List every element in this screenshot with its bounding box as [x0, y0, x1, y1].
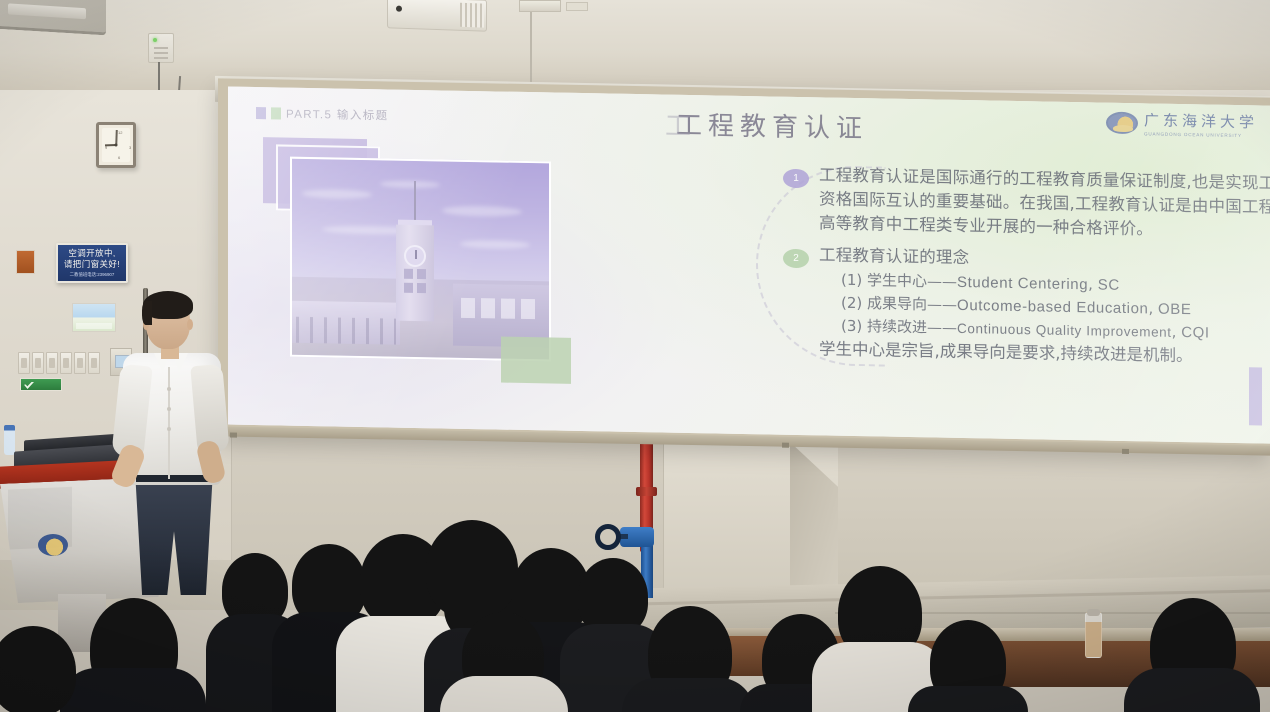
decor-lavender-bar	[1249, 367, 1262, 425]
concept-2-dash: ——	[927, 295, 957, 314]
concept-2-index: (2)	[841, 294, 862, 312]
status-led-icon	[153, 38, 157, 42]
concept-3-cn: 持续改进	[867, 317, 927, 336]
concept-1-abbr: SC	[1098, 276, 1120, 293]
presenter	[118, 295, 226, 595]
wall-clock: 12 3 6 9	[96, 122, 136, 168]
exit-sign	[20, 378, 62, 391]
concept-3-index: (3)	[841, 317, 862, 335]
concept-2-abbr: OBE	[1158, 301, 1191, 319]
projection-surface: PART.5 输入标题 工 工程教育认证 广东海洋大学 GUANGDONG OC…	[228, 87, 1270, 444]
photo-colonnade	[296, 317, 396, 345]
photo-antenna	[414, 181, 416, 221]
presenter-ear-right	[187, 319, 193, 330]
concept-1-en: Student Centering	[957, 274, 1088, 293]
light-switch[interactable]	[88, 352, 100, 374]
audience-body	[60, 668, 206, 712]
projector-vents	[460, 3, 484, 28]
light-switch[interactable]	[60, 352, 72, 374]
slide-block-2: 2 工程教育认证的理念 (1) 学生中心——Student Centering,…	[783, 243, 1270, 374]
ceiling	[0, 0, 1270, 96]
projection-screen-frame: PART.5 输入标题 工 工程教育认证 广东海洋大学 GUANGDONG OC…	[218, 78, 1270, 452]
water-bottle-podium	[4, 425, 15, 455]
photo-clock-tower	[396, 225, 434, 322]
standpipe-valve-wheel-icon[interactable]	[595, 524, 621, 550]
slide-title-ghost: 工	[665, 106, 697, 144]
bullet-number-1: 1	[783, 169, 809, 188]
water-cup-bench	[1085, 612, 1102, 658]
concept-2-en: Outcome-based Education	[957, 297, 1148, 318]
university-logo: 广东海洋大学 GUANGDONG OCEAN UNIVERSITY	[1106, 109, 1258, 139]
concept-1-cn: 学生中心	[867, 271, 927, 290]
block-1-text: 工程教育认证是国际通行的工程教育质量保证制度,也是实现工程教育国际互认和工程师资…	[819, 163, 1270, 247]
notice-line-1: 空调开放中,	[68, 248, 115, 259]
concept-3-en: Continuous Quality Improvement	[957, 321, 1172, 340]
light-switch-row[interactable]	[18, 352, 100, 374]
university-name-en: GUANGDONG OCEAN UNIVERSITY	[1144, 131, 1258, 138]
light-switch[interactable]	[46, 352, 58, 374]
audience-body	[908, 686, 1028, 712]
concept-3-abbr: CQI	[1181, 324, 1209, 342]
slide-title-text: 工程教育认证	[676, 111, 868, 145]
slide-photo-composition	[263, 133, 583, 399]
light-switch[interactable]	[18, 352, 30, 374]
standpipe-flange	[636, 487, 657, 496]
podium-emblem-icon	[38, 534, 68, 556]
university-name-cn: 广东海洋大学	[1144, 111, 1258, 131]
slide-body: 1 工程教育认证是国际通行的工程教育质量保证制度,也是实现工程教育国际互认和工程…	[783, 163, 1270, 382]
notice-line-2: 请把门窗关好!	[64, 259, 120, 270]
concept-3-dash: ——	[927, 318, 957, 337]
wall-control-device[interactable]	[148, 33, 174, 63]
ceiling-ac-vent	[0, 0, 106, 35]
lecture-hall-scene: 12 3 6 9 空调开放中, 请把门窗关好! 二教值班电话:2396907	[0, 0, 1270, 712]
audience-body-white-shirt	[440, 676, 568, 712]
light-switch[interactable]	[74, 352, 86, 374]
ceiling-plate	[519, 0, 561, 12]
presenter-shirt-placket	[168, 367, 170, 479]
ceiling-projector	[387, 0, 487, 32]
presenter-hair-side	[142, 301, 152, 325]
wall-poster	[72, 303, 116, 332]
audience-head	[426, 520, 518, 618]
presenter-trousers	[132, 477, 216, 595]
presenter-belt	[136, 475, 212, 482]
photo-tower-clock-icon	[404, 245, 426, 267]
concept-list: (1) 学生中心——Student Centering, SC (2) 成果导向…	[819, 268, 1270, 349]
ceiling-drop-wire	[530, 12, 532, 90]
header-chip-green-icon	[271, 107, 281, 119]
concept-1-dash: ——	[927, 272, 957, 291]
bullet-number-2: 2	[783, 249, 809, 268]
concept-2-cn: 成果导向	[867, 294, 927, 313]
air-conditioning-notice-sign: 空调开放中, 请把门窗关好! 二教值班电话:2396907	[56, 243, 128, 283]
slide-title: 工 工程教育认证	[676, 105, 868, 146]
ceiling-plate-small	[566, 2, 588, 11]
university-emblem-icon	[1106, 111, 1138, 134]
orange-wall-plate	[16, 250, 35, 274]
clock-face: 12 3 6 9	[102, 128, 130, 162]
header-chip-purple-icon	[256, 107, 266, 119]
powerpoint-slide: PART.5 输入标题 工 工程教育认证 广东海洋大学 GUANGDONG OC…	[228, 87, 1270, 444]
projector-lens-icon	[396, 6, 402, 12]
campus-photo	[290, 157, 551, 362]
slide-header: PART.5 输入标题	[256, 105, 389, 123]
concept-1-index: (1)	[841, 271, 862, 289]
decor-square-green	[501, 337, 571, 384]
audience-body	[622, 678, 754, 712]
slide-part-label: PART.5 输入标题	[286, 106, 389, 124]
notice-line-3: 二教值班电话:2396907	[70, 272, 115, 278]
light-switch[interactable]	[32, 352, 44, 374]
slide-block-1: 1 工程教育认证是国际通行的工程教育质量保证制度,也是实现工程教育国际互认和工程…	[783, 163, 1270, 248]
audience-body	[1124, 668, 1260, 712]
